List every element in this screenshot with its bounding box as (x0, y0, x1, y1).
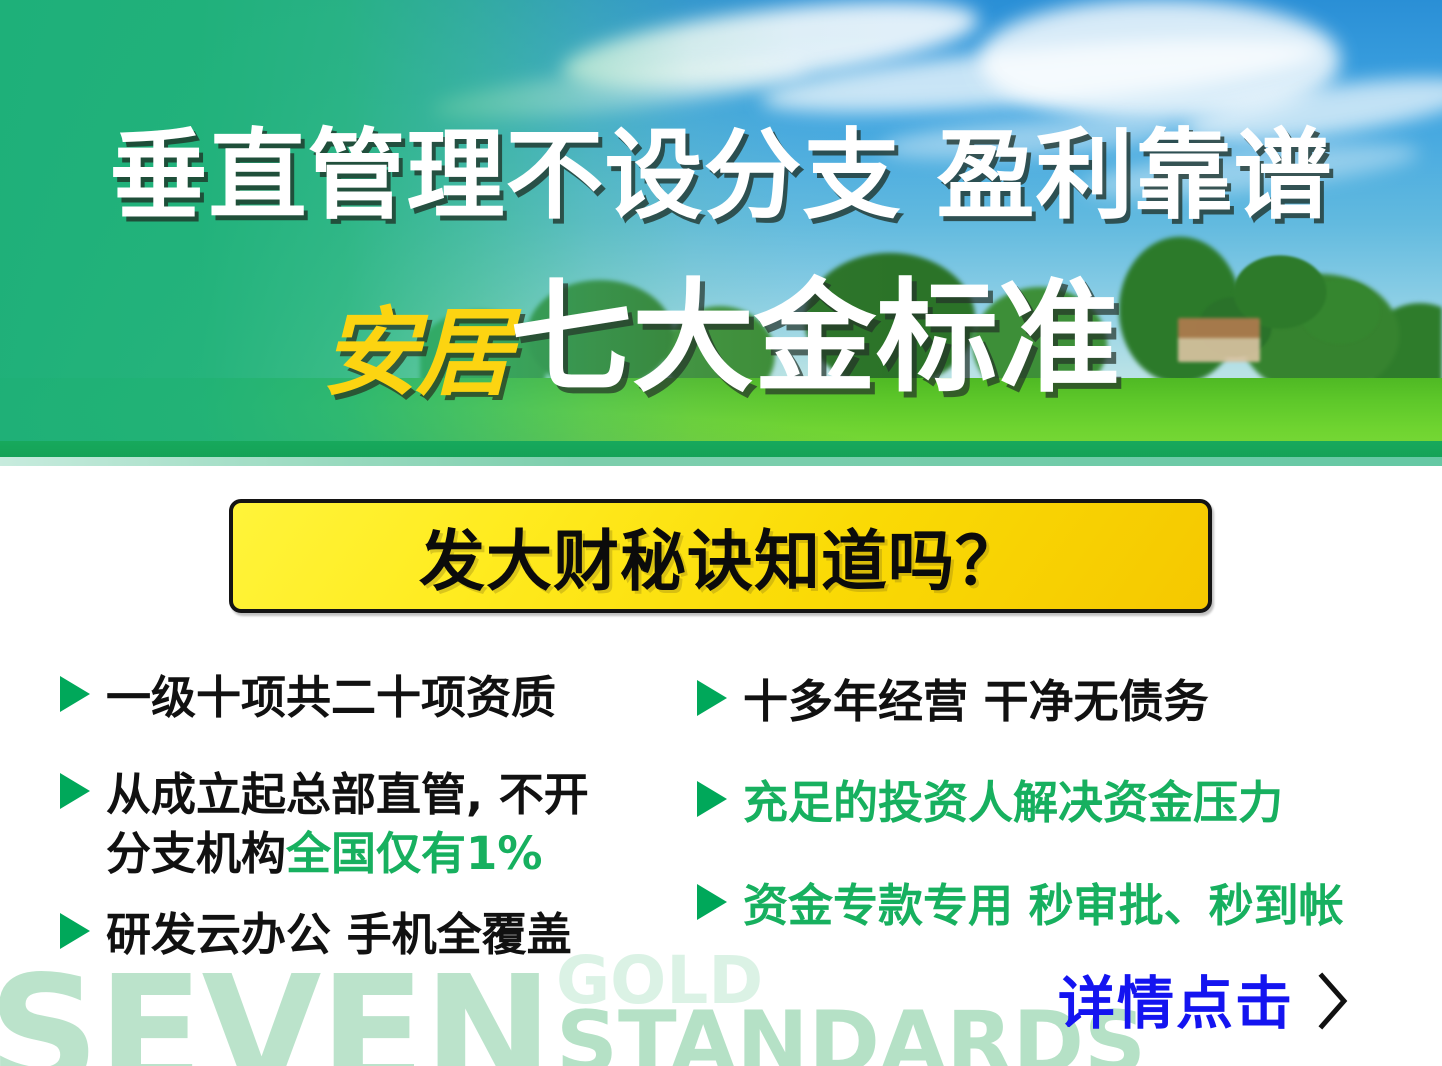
list-item-label: 从成立起总部直管, 不开分支机构全国仅有1% (106, 765, 589, 883)
list-item: 从成立起总部直管, 不开分支机构全国仅有1% (60, 765, 700, 883)
triangle-bullet-icon (697, 781, 727, 817)
chevron-right-icon (1316, 972, 1350, 1035)
list-item: 资金专款专用 秒审批、秒到帐 (697, 876, 1417, 935)
list-item-label: 一级十项共二十项资质 (106, 668, 556, 727)
hero-banner: 垂直管理不设分支 盈利靠谱 安居七大金标准 (0, 0, 1442, 466)
list-item-label: 十多年经营 干净无债务 (743, 672, 1209, 731)
cta-button[interactable]: 发大财秘诀知道吗？ (229, 499, 1212, 613)
triangle-bullet-icon (60, 773, 90, 809)
headline-main-text: 七大金标准 (510, 267, 1120, 409)
watermark-seven: SEVEN (0, 955, 551, 1066)
list-item-label: 研发云办公 手机全覆盖 (106, 905, 572, 964)
promo-poster: 垂直管理不设分支 盈利靠谱 安居七大金标准 发大财秘诀知道吗？ 一级十项共二十项… (0, 0, 1442, 1066)
list-item-highlight: 全国仅有1% (286, 827, 542, 880)
list-item-line2: 分支机构 (106, 827, 286, 880)
list-item: 一级十项共二十项资质 (60, 668, 700, 727)
triangle-bullet-icon (697, 680, 727, 716)
detail-link-label: 详情点击 (1058, 973, 1294, 1035)
headline-brush-text: 安居 (322, 296, 510, 409)
triangle-bullet-icon (60, 676, 90, 712)
triangle-bullet-icon (60, 913, 90, 949)
headline-primary: 垂直管理不设分支 盈利靠谱 (0, 124, 1442, 228)
list-item-label: 充足的投资人解决资金压力 (743, 773, 1283, 832)
list-item: 十多年经营 干净无债务 (697, 672, 1417, 731)
triangle-bullet-icon (697, 884, 727, 920)
cta-button-label: 发大财秘诀知道吗？ (419, 508, 1022, 604)
feature-list-left: 一级十项共二十项资质 从成立起总部直管, 不开分支机构全国仅有1% 研发云办公 … (60, 668, 700, 964)
list-item-label: 资金专款专用 秒审批、秒到帐 (743, 876, 1344, 935)
headline-secondary: 安居七大金标准 (0, 276, 1442, 438)
detail-link[interactable]: 详情点击 (1058, 972, 1350, 1035)
list-item: 研发云办公 手机全覆盖 (60, 905, 700, 964)
banner-bottom-bar (0, 441, 1442, 457)
list-item: 充足的投资人解决资金压力 (697, 773, 1417, 832)
list-item-line1: 从成立起总部直管, 不开 (106, 768, 589, 821)
feature-list-right: 十多年经营 干净无债务 充足的投资人解决资金压力 资金专款专用 秒审批、秒到帐 (697, 672, 1417, 935)
banner-bottom-fade (0, 457, 1442, 466)
